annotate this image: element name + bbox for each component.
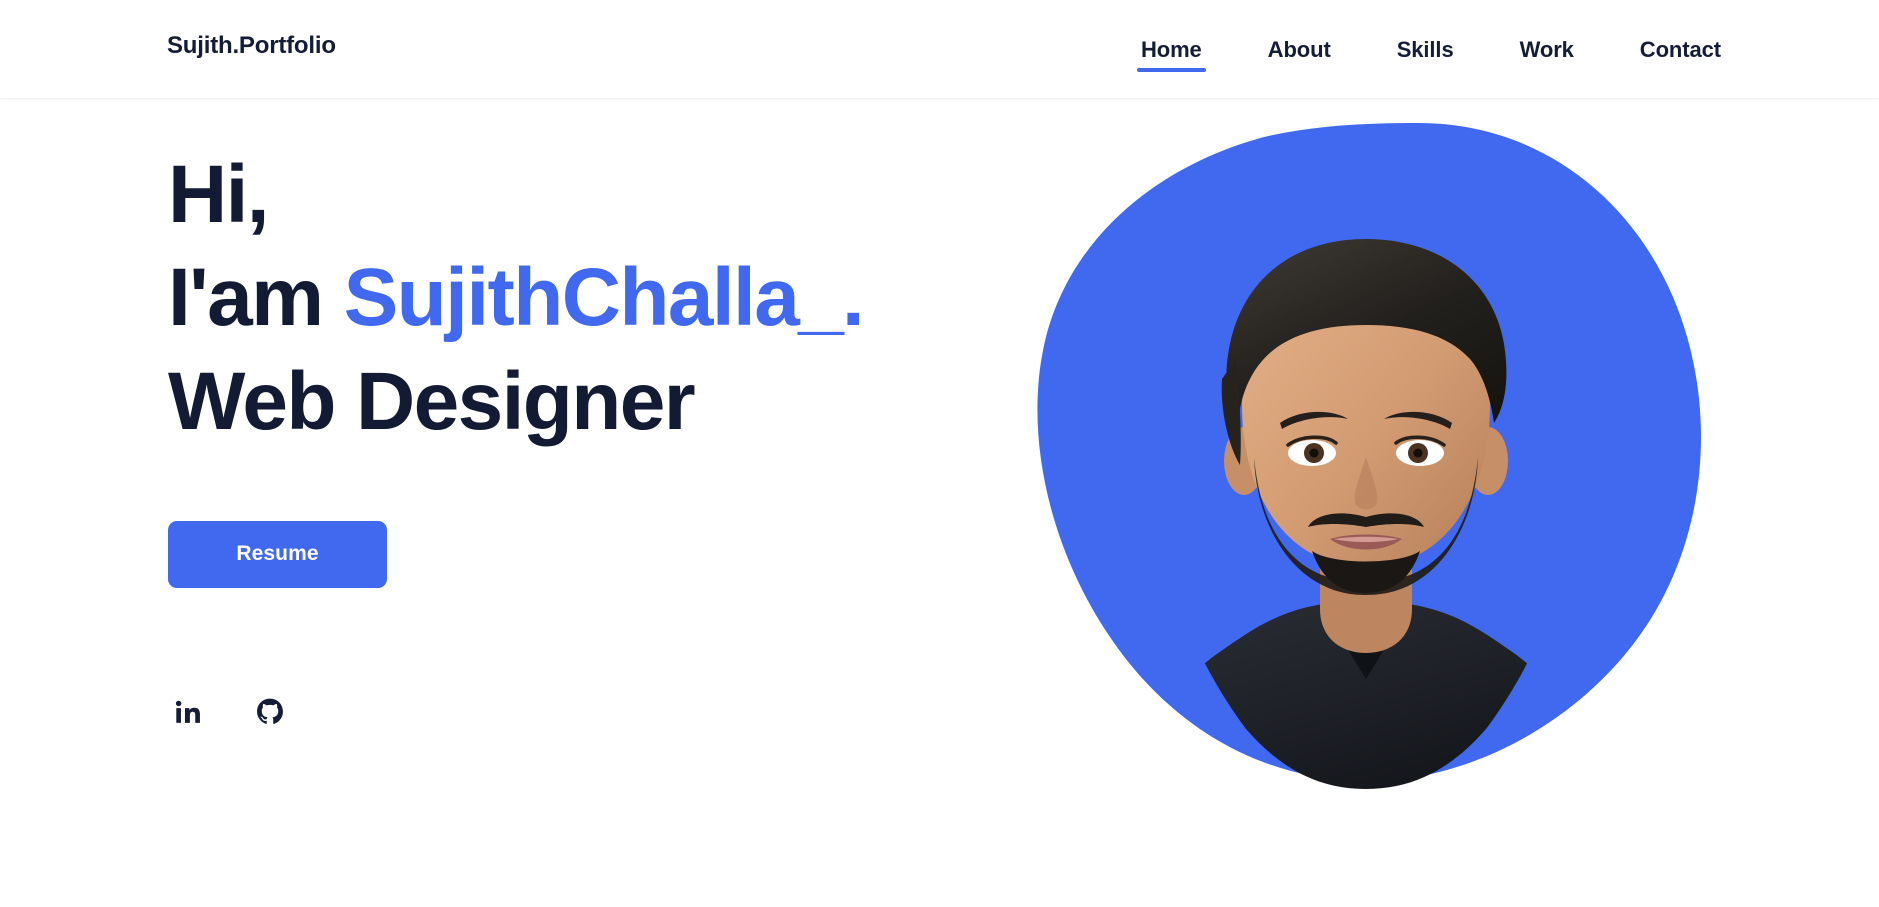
resume-button[interactable]: Resume <box>168 521 387 588</box>
role-text: Web Designer <box>168 356 694 447</box>
hero-section: Hi, I'am SujithChalla_. Web Designer Res… <box>0 99 1879 907</box>
typing-cursor: _ <box>798 252 842 343</box>
headline-line-role: Web Designer <box>168 350 1028 453</box>
portfolio-page: Sujith.Portfolio Home About Skills Work … <box>0 0 1879 907</box>
brand-logo[interactable]: Sujith.Portfolio <box>167 32 336 60</box>
nav-item-about[interactable]: About <box>1235 0 1364 99</box>
nav-item-work-label: Work <box>1520 37 1574 62</box>
hero-headline: Hi, I'am SujithChalla_. Web Designer <box>168 143 1028 453</box>
social-links <box>168 696 1028 728</box>
nav-item-contact[interactable]: Contact <box>1607 0 1754 99</box>
linkedin-icon[interactable] <box>172 696 204 728</box>
active-nav-underline <box>1137 68 1206 72</box>
hero-portrait-column <box>1028 117 1728 807</box>
nav-item-skills-label: Skills <box>1397 37 1454 62</box>
name-period: . <box>842 252 863 343</box>
intro-prefix-text: I'am <box>168 252 344 343</box>
greeting-text: Hi, <box>168 149 268 240</box>
headline-line-greeting: Hi, <box>168 143 1028 246</box>
name-text: SujithChalla <box>344 252 799 343</box>
nav-item-contact-label: Contact <box>1640 37 1721 62</box>
portrait-photo <box>1116 209 1616 789</box>
nav-item-about-label: About <box>1268 37 1331 62</box>
main-navigation: Home About Skills Work Contact <box>1108 0 1754 99</box>
nav-item-skills[interactable]: Skills <box>1364 0 1487 99</box>
portrait-blob <box>1028 117 1708 789</box>
nav-item-home-label: Home <box>1141 37 1202 62</box>
site-header: Sujith.Portfolio Home About Skills Work … <box>0 0 1879 99</box>
headline-line-name: I'am SujithChalla_. <box>168 246 1028 349</box>
nav-item-home[interactable]: Home <box>1108 0 1235 99</box>
github-icon[interactable] <box>254 696 286 728</box>
hero-text-column: Hi, I'am SujithChalla_. Web Designer Res… <box>168 143 1028 728</box>
nav-item-work[interactable]: Work <box>1487 0 1607 99</box>
